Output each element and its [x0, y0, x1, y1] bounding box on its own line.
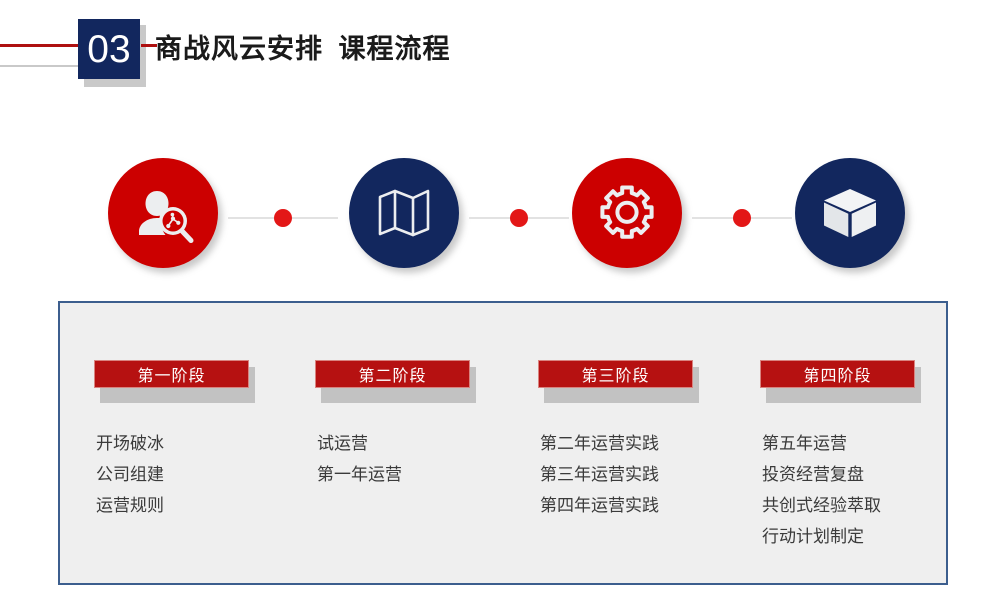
process-step-3[interactable]: [572, 158, 692, 278]
stages-panel: 第一阶段 开场破冰 公司组建 运营规则 第二阶段 试运营 第一年运营 第三阶段 …: [58, 301, 948, 585]
process-icon-strip: [0, 158, 1006, 283]
user-search-icon: [108, 158, 218, 268]
gear-icon: [572, 158, 682, 268]
stage-badge-wrap: 第四阶段: [760, 360, 915, 396]
stage-item-list: 第二年运营实践 第三年运营实践 第四年运营实践: [538, 428, 693, 521]
process-step-4[interactable]: [795, 158, 915, 278]
list-item: 开场破冰: [96, 428, 249, 459]
stage-badge-wrap: 第一阶段: [94, 360, 249, 396]
section-number: 03: [78, 19, 140, 79]
connector-dot: [510, 209, 528, 227]
connector-1-2: [228, 216, 338, 220]
connector-dot: [274, 209, 292, 227]
stage-badge: 第四阶段: [760, 360, 915, 388]
process-step-1[interactable]: [108, 158, 228, 278]
list-item: 投资经营复盘: [762, 459, 915, 490]
list-item: 第五年运营: [762, 428, 915, 459]
list-item: 试运营: [317, 428, 470, 459]
list-item: 第二年运营实践: [540, 428, 693, 459]
list-item: 第四年运营实践: [540, 490, 693, 521]
list-item: 共创式经验萃取: [762, 490, 915, 521]
stage-item-list: 开场破冰 公司组建 运营规则: [94, 428, 249, 521]
list-item: 行动计划制定: [762, 521, 915, 552]
process-step-2[interactable]: [349, 158, 469, 278]
stage-badge-wrap: 第二阶段: [315, 360, 470, 396]
stage-column-2: 第二阶段 试运营 第一年运营: [315, 360, 470, 490]
connector-2-3: [469, 216, 569, 220]
connector-dot: [733, 209, 751, 227]
list-item: 第一年运营: [317, 459, 470, 490]
stage-item-list: 第五年运营 投资经营复盘 共创式经验萃取 行动计划制定: [760, 428, 915, 552]
stage-column-1: 第一阶段 开场破冰 公司组建 运营规则: [94, 360, 249, 521]
page-title: 商战风云安排 课程流程: [155, 27, 451, 66]
list-item: 公司组建: [96, 459, 249, 490]
cube-box-icon: [795, 158, 905, 268]
slide-header: 03 商战风云安排 课程流程: [0, 0, 1006, 100]
stage-column-4: 第四阶段 第五年运营 投资经营复盘 共创式经验萃取 行动计划制定: [760, 360, 915, 552]
connector-3-4: [692, 216, 792, 220]
stage-column-3: 第三阶段 第二年运营实践 第三年运营实践 第四年运营实践: [538, 360, 693, 521]
map-icon: [349, 158, 459, 268]
stage-item-list: 试运营 第一年运营: [315, 428, 470, 490]
list-item: 运营规则: [96, 490, 249, 521]
stage-badge: 第一阶段: [94, 360, 249, 388]
header-gray-rule: [0, 65, 85, 67]
stage-badge: 第三阶段: [538, 360, 693, 388]
list-item: 第三年运营实践: [540, 459, 693, 490]
stage-badge: 第二阶段: [315, 360, 470, 388]
stage-badge-wrap: 第三阶段: [538, 360, 693, 396]
